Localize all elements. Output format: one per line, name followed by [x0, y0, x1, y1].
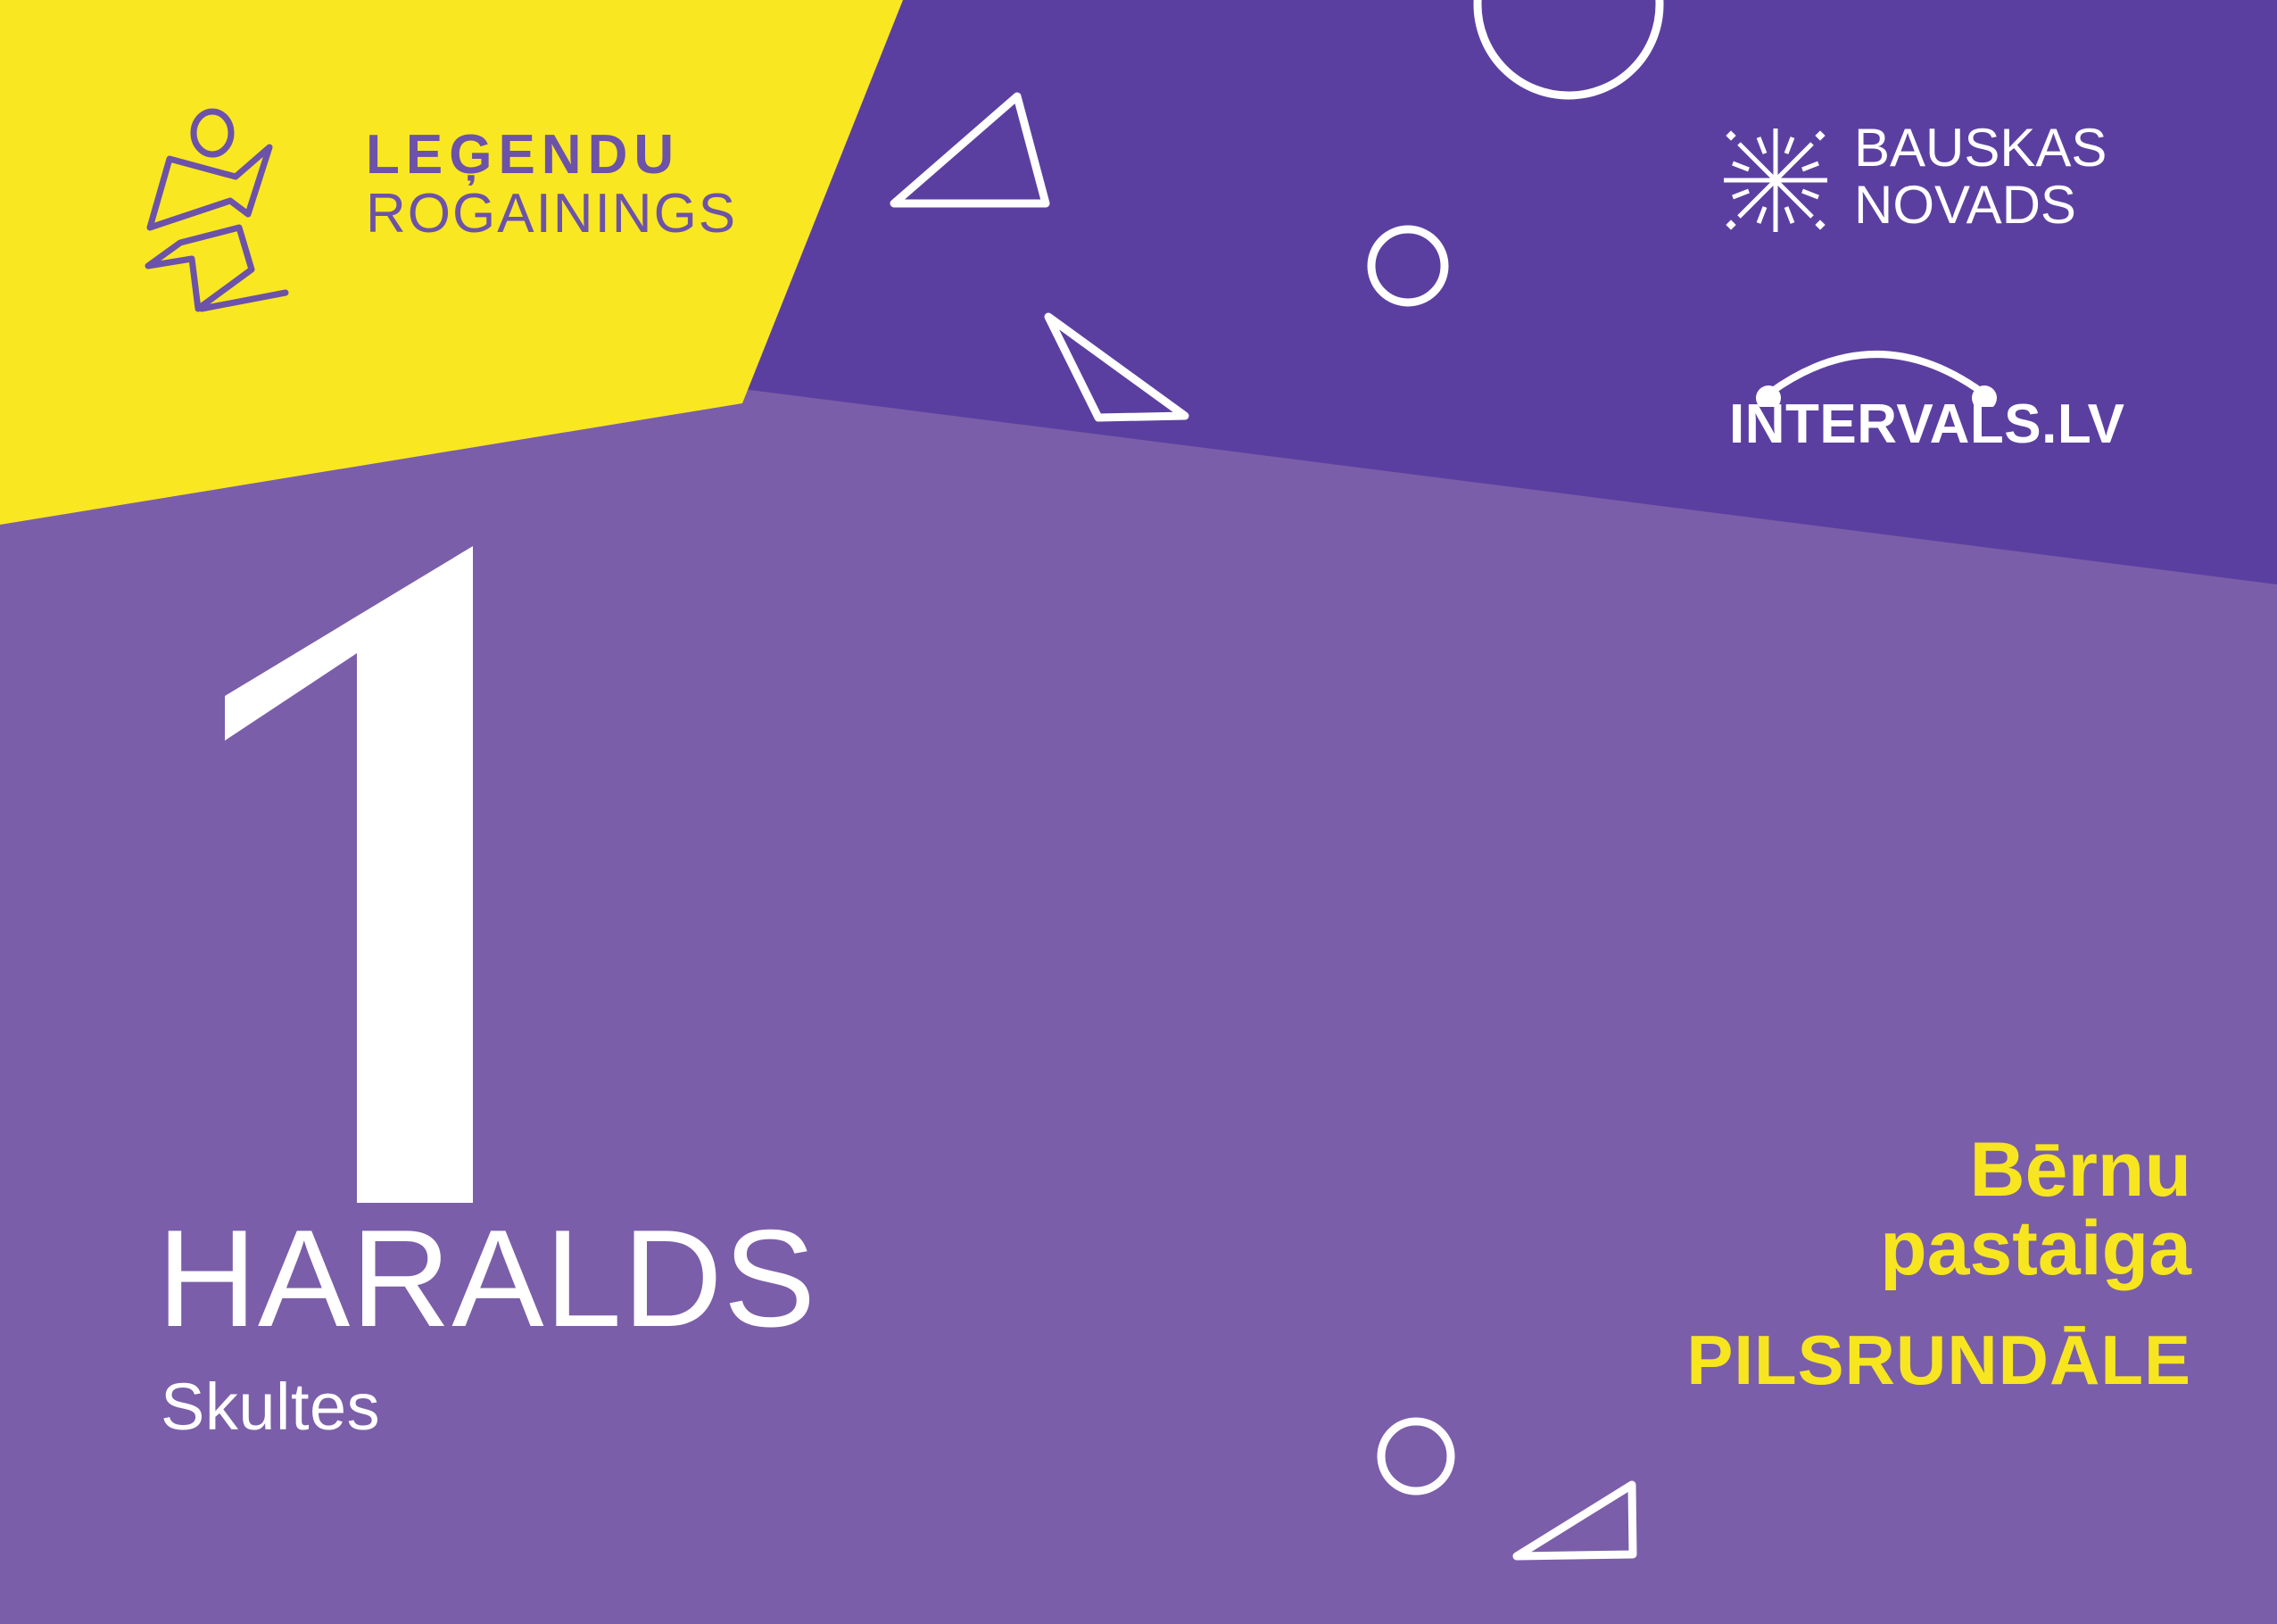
control-point-number: [205, 526, 509, 1205]
bauskas-line-2: NOVADS: [1854, 177, 2107, 234]
poster-canvas: LEĢENDU ROGAININGS: [0, 0, 2277, 1624]
control-point-number-glyph: [225, 546, 473, 1203]
logo-line-1: LEĢENDU: [366, 127, 723, 183]
bauskas-novads-wordmark: BAUSKAS NOVADS: [1854, 120, 2107, 233]
course-title: Bērnu pastaiga: [1549, 1131, 2191, 1288]
intervals-lv-wordmark: INTERVALS.LV: [1729, 393, 2124, 456]
control-point-name: HARALDS: [157, 1209, 816, 1347]
course-title-line-2: pastaiga: [1549, 1210, 2191, 1288]
control-point-subname: Skultes: [161, 1374, 380, 1440]
runner-figure-icon: [143, 107, 330, 312]
bauskas-line-1: BAUSKAS: [1854, 120, 2107, 177]
bauskas-novads-logo[interactable]: BAUSKAS NOVADS: [1722, 125, 2186, 268]
intervals-lv-logo[interactable]: INTERVALS.LV: [1729, 337, 2149, 471]
legendu-rogainings-logo[interactable]: LEĢENDU ROGAININGS: [143, 107, 696, 321]
starburst-icon: [1722, 127, 1829, 234]
legendu-rogainings-wordmark: LEĢENDU ROGAININGS: [366, 127, 723, 245]
course-place: PILSRUNDĀLE: [1549, 1325, 2191, 1395]
course-block: Bērnu pastaiga PILSRUNDĀLE: [1549, 1131, 2191, 1395]
logo-line-2: ROGAININGS: [366, 183, 723, 244]
course-title-line-1: Bērnu: [1549, 1131, 2191, 1210]
